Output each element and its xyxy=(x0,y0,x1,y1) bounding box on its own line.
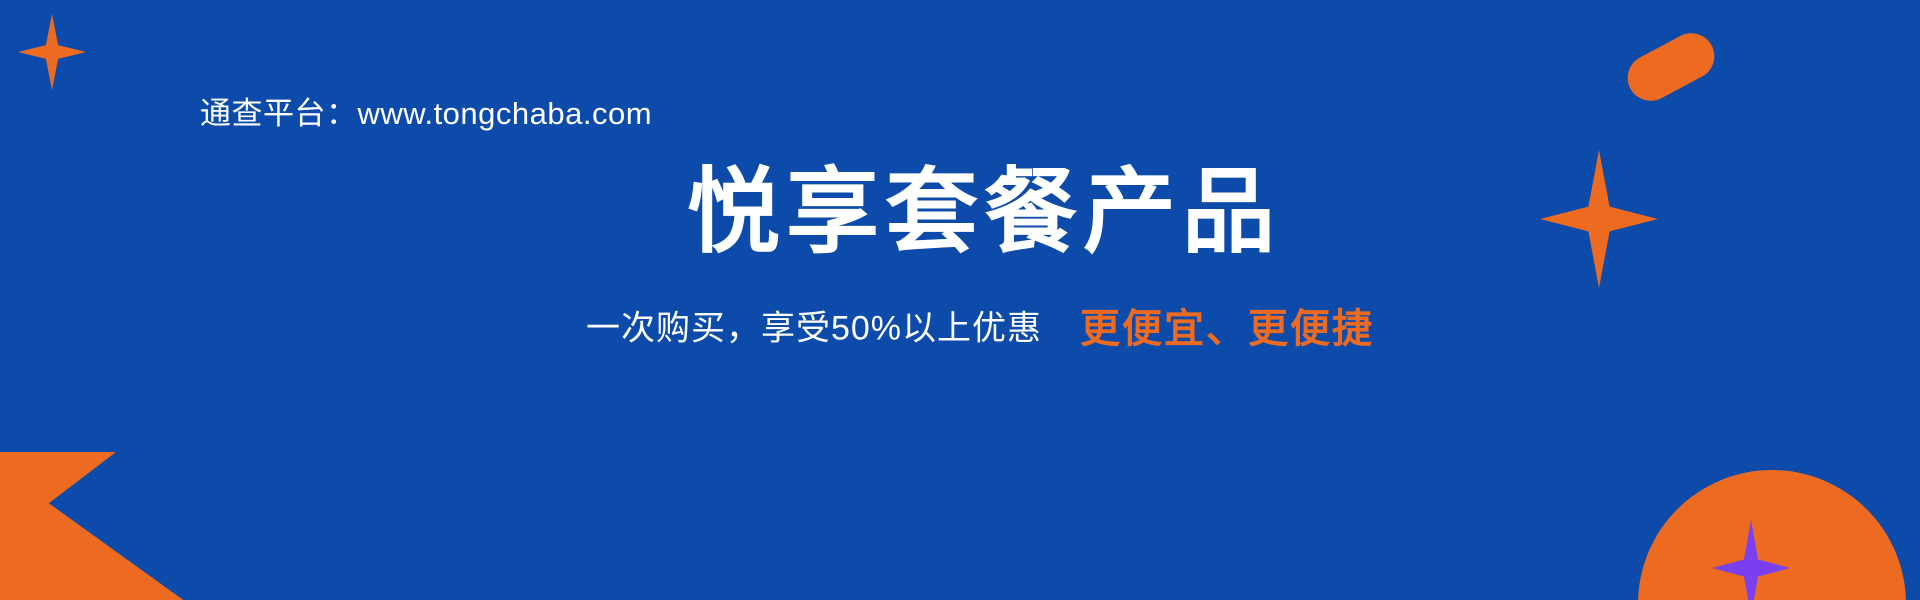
page-title: 悦享套餐产品 xyxy=(0,160,1920,264)
platform-url[interactable]: www.tongchaba.com xyxy=(358,96,653,131)
banner-content: 通查平台：www.tongchaba.com 悦享套餐产品 一次购买，享受50%… xyxy=(0,0,1920,600)
platform-line: 通查平台：www.tongchaba.com xyxy=(200,88,652,133)
promo-banner: 通查平台：www.tongchaba.com 悦享套餐产品 一次购买，享受50%… xyxy=(0,0,1920,600)
subtitle-plain-text: 一次购买，享受50%以上优惠 xyxy=(586,310,1042,348)
platform-label: 通查平台： xyxy=(200,96,358,131)
subtitle-accent-text: 更便宜、更便捷 xyxy=(1080,307,1374,351)
subtitle-line: 一次购买，享受50%以上优惠更便宜、更便捷 xyxy=(0,296,1920,354)
